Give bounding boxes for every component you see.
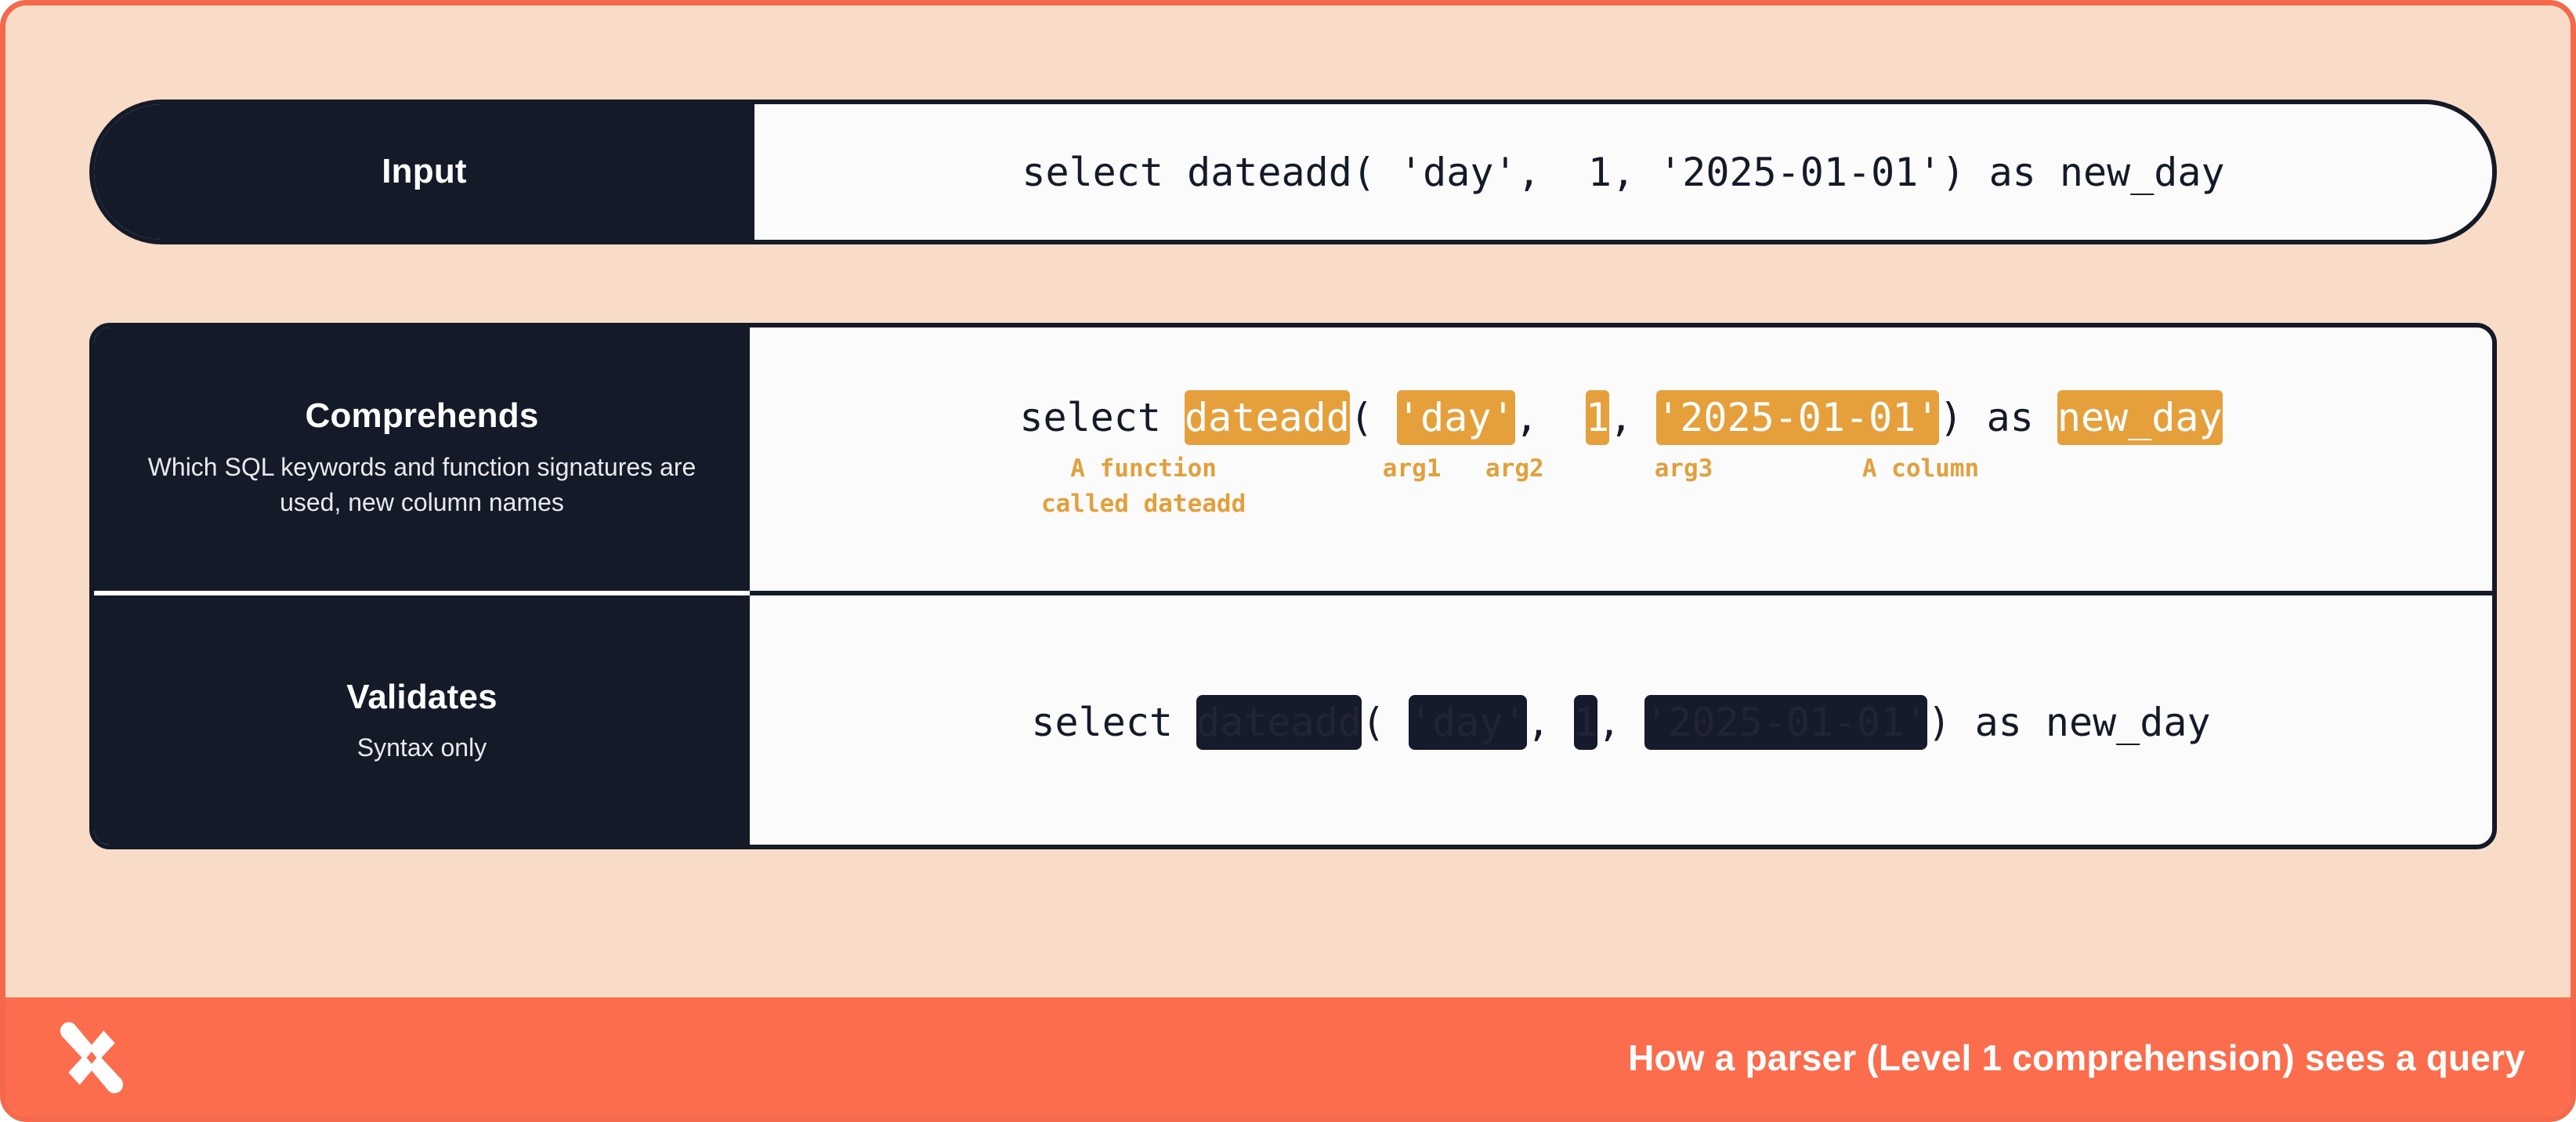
comprehends-annotation-4: A column [1862, 451, 1979, 487]
infographic-root: Input select dateadd( 'day', 1, '2025-01… [0, 0, 2576, 1122]
comprehends-annotation-1: arg1 [1383, 451, 1442, 487]
comprehends-code-token-0: select [1019, 395, 1185, 440]
validates-code-token-4: , [1527, 700, 1574, 745]
validates-code-token-6: , [1597, 700, 1644, 745]
tobiko-x-logo-icon [51, 1017, 132, 1098]
comprehends-code-token-7: '2025-01-01' [1656, 390, 1939, 445]
comprehends-code-token-5: 1 [1586, 390, 1609, 445]
validates-code-token-7: '2025-01-01' [1644, 695, 1927, 750]
comprehends-code-token-4: , [1515, 395, 1586, 440]
comprehends-code-token-2: ( [1350, 395, 1397, 440]
comprehends-annotation-2: arg2 [1485, 451, 1544, 487]
validates-code-token-8: ) as new_day [1927, 700, 2210, 745]
validates-row-title: Validates [346, 679, 497, 716]
comprehends-label-column: Comprehends Which SQL keywords and funct… [94, 328, 750, 591]
comprehends-row: Comprehends Which SQL keywords and funct… [94, 328, 2492, 591]
parser-behaviour-card: Comprehends Which SQL keywords and funct… [89, 323, 2497, 849]
comprehends-annotation-0: A function called dateadd [1041, 451, 1246, 521]
comprehends-code-token-3: 'day' [1397, 390, 1515, 445]
validates-code-line: select dateadd( 'day', 1, '2025-01-01') … [1031, 700, 2210, 745]
comprehends-code-column: select dateadd( 'day', 1, '2025-01-01') … [750, 328, 2492, 591]
validates-row-subtitle: Syntax only [357, 730, 487, 765]
validates-code-token-0: select [1031, 700, 1196, 745]
input-code-column: select dateadd( 'day', 1, '2025-01-01') … [754, 104, 2492, 240]
comprehends-code-token-1: dateadd [1185, 390, 1350, 445]
validates-code-token-1: dateadd [1196, 695, 1362, 750]
footer-caption: How a parser (Level 1 comprehension) see… [1628, 1037, 2525, 1079]
comprehends-code-token-8: ) as [1939, 395, 2057, 440]
comprehends-annotation-3: arg3 [1655, 451, 1713, 487]
input-row-title: Input [382, 153, 467, 190]
validates-row: Validates Syntax only select dateadd( 'd… [94, 595, 2492, 849]
input-card: Input select dateadd( 'day', 1, '2025-01… [89, 100, 2497, 244]
footer-bar: How a parser (Level 1 comprehension) see… [4, 997, 2572, 1118]
validates-code-token-2: ( [1362, 700, 1409, 745]
comprehends-annotation-group: A function called dateaddarg1arg2arg3A c… [750, 451, 2492, 553]
input-code-line: select dateadd( 'day', 1, '2025-01-01') … [1022, 150, 2224, 195]
comprehends-row-subtitle: Which SQL keywords and function signatur… [121, 450, 724, 521]
validates-code-token-3: 'day' [1409, 695, 1527, 750]
comprehends-row-title: Comprehends [305, 397, 538, 435]
validates-code-column: select dateadd( 'day', 1, '2025-01-01') … [750, 595, 2492, 849]
comprehends-code-token-9: new_day [2057, 390, 2223, 445]
validates-code-token-5: 1 [1574, 695, 1597, 750]
comprehends-code-line: select dateadd( 'day', 1, '2025-01-01') … [1019, 395, 2222, 440]
input-label-column: Input [94, 104, 754, 240]
comprehends-code-token-6: , [1609, 395, 1656, 440]
validates-label-column: Validates Syntax only [94, 595, 750, 849]
